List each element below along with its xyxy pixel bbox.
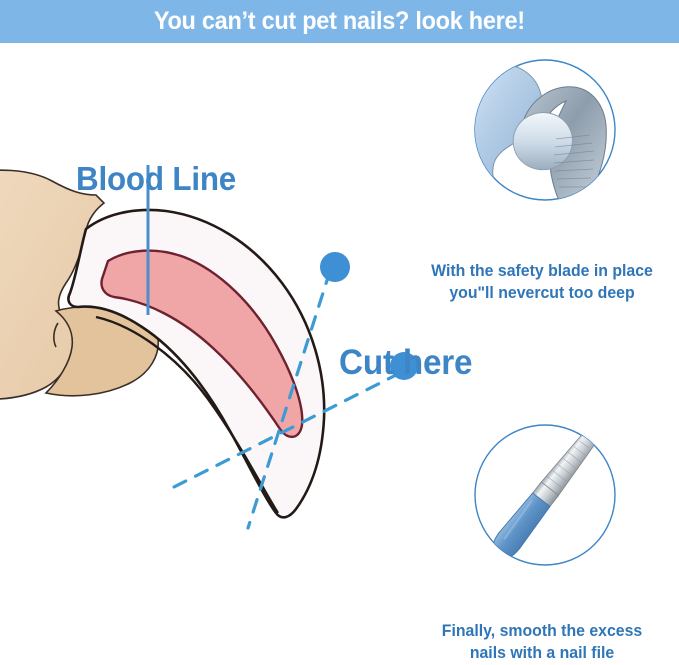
- caption-safety-blade: With the safety blade in place you"ll ne…: [410, 261, 673, 305]
- inset-safety-blade: [452, 60, 615, 203]
- caption-safety-blade-line1: With the safety blade in place: [410, 261, 673, 283]
- artwork-svg: [0, 43, 679, 626]
- header-banner: You can’t cut pet nails? look here!: [0, 0, 679, 43]
- inset-nail-file: [475, 425, 615, 566]
- illustration-stage: 1 2 Blood Line Cut here With the safety …: [0, 43, 679, 626]
- claw-illustration: [0, 170, 324, 517]
- infographic-root: You can’t cut pet nails? look here!: [0, 0, 679, 626]
- page-title: You can’t cut pet nails? look here!: [154, 7, 525, 36]
- caption-nail-file-line2: nails with a nail file: [410, 643, 673, 665]
- blood-line-label: Blood Line: [76, 160, 236, 198]
- caption-nail-file: Finally, smooth the excess nails with a …: [410, 621, 673, 665]
- caption-safety-blade-line2: you"ll nevercut too deep: [410, 283, 673, 305]
- caption-nail-file-line1: Finally, smooth the excess: [410, 621, 673, 643]
- marker-1-circle: [320, 252, 350, 282]
- cut-here-label: Cut here: [339, 343, 472, 383]
